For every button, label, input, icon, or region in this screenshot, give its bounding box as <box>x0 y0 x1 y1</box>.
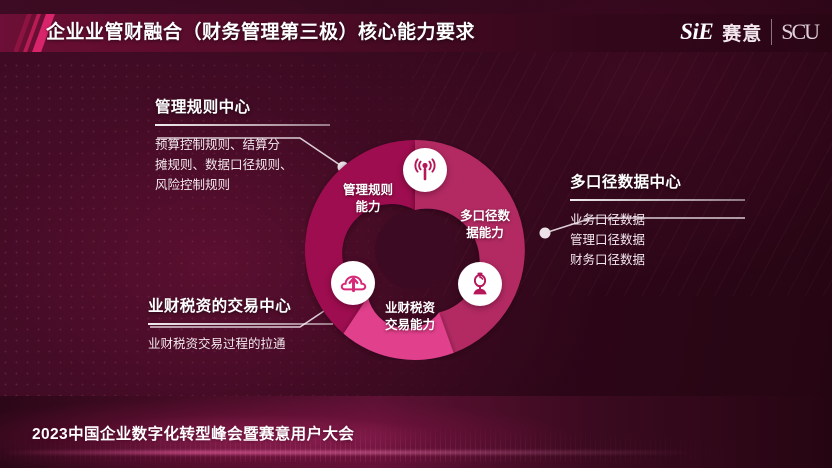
brand-chinese-text: 赛意 <box>722 19 762 46</box>
callout-data-divider <box>570 199 745 201</box>
callout-data-body: 业务口径数据 管理口径数据 财务口径数据 <box>570 210 790 270</box>
brand-divider <box>771 19 772 45</box>
donut-center-hole <box>375 210 455 290</box>
callout-data-center: 多口径数据中心 业务口径数据 管理口径数据 财务口径数据 <box>570 170 790 270</box>
callout-rule-body: 预算控制规则、结算分 摊规则、数据口径规则、 风险控制规则 <box>155 135 345 195</box>
callout-trade-divider <box>148 323 333 325</box>
page-title: 企业业管财融合（财务管理第三极）核心能力要求 <box>46 14 475 52</box>
callout-trade-heading: 业财税资的交易中心 <box>148 294 378 316</box>
callout-rule-divider <box>155 124 330 126</box>
brand-logo: SiE 赛意 SCU <box>680 12 818 52</box>
donut-label-trade: 业财税资 交易能力 <box>368 300 452 334</box>
connector-dot-data <box>540 228 551 239</box>
brand-scu-mark: SCU <box>781 19 818 45</box>
donut-label-data: 多口径数 据能力 <box>446 208 524 242</box>
footer-glow-line <box>0 451 700 454</box>
signal-tower-icon <box>403 148 447 192</box>
brand-sie-text: SiE <box>680 19 713 45</box>
callout-trade-body: 业财税资交易过程的拉通 <box>148 334 378 354</box>
callout-rule-heading: 管理规则中心 <box>155 95 345 117</box>
callout-data-heading: 多口径数据中心 <box>570 170 790 192</box>
scope-stand-icon <box>458 262 502 306</box>
callout-trade-center: 业财税资的交易中心 业财税资交易过程的拉通 <box>148 294 378 354</box>
callout-rule-center: 管理规则中心 预算控制规则、结算分 摊规则、数据口径规则、 风险控制规则 <box>155 95 345 195</box>
slide-canvas: 企业业管财融合（财务管理第三极）核心能力要求 SiE 赛意 SCU <box>0 0 832 468</box>
footer-event-title: 2023中国企业数字化转型峰会暨赛意用户大会 <box>32 422 354 444</box>
